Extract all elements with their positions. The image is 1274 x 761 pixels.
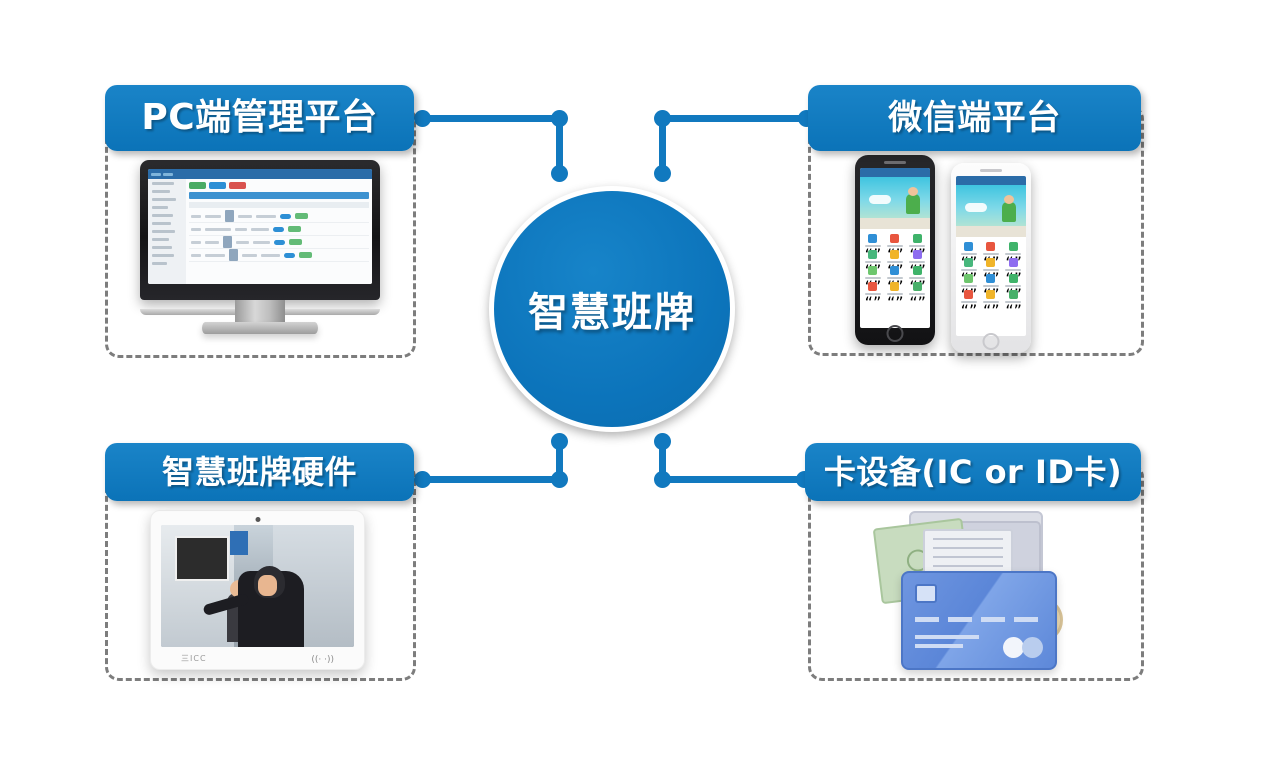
hub-node-smart-class-board[interactable]: 智慧班牌 bbox=[489, 186, 735, 432]
node-label-text: 智慧班牌硬件 bbox=[162, 456, 357, 488]
connector-dot-pc-elbow bbox=[551, 110, 568, 127]
connector-dot-card-end bbox=[654, 433, 671, 450]
connector-line-board-horizontal bbox=[420, 476, 560, 483]
node-label-card-device[interactable]: 卡设备(IC or ID卡) bbox=[805, 443, 1141, 501]
connector-dot-board-elbow bbox=[551, 471, 568, 488]
phone-dark bbox=[855, 155, 935, 345]
connector-dot-board-end bbox=[551, 433, 568, 450]
connector-line-pc-horizontal bbox=[420, 115, 560, 122]
node-label-pc-platform[interactable]: PC端管理平台 bbox=[105, 85, 414, 151]
ic-card bbox=[901, 571, 1057, 670]
connector-dot-board-start bbox=[414, 471, 431, 488]
node-label-text: 卡设备(IC or ID卡) bbox=[824, 456, 1122, 488]
board-brand-text: 三ICC bbox=[181, 653, 207, 664]
artwork-desktop-imac:  bbox=[140, 160, 380, 335]
connector-dot-pc-end bbox=[551, 165, 568, 182]
wifi-icon: ((· ·)) bbox=[311, 655, 334, 665]
phone-light bbox=[951, 163, 1031, 353]
connector-dot-pc-start bbox=[414, 110, 431, 127]
node-label-smart-board-hardware[interactable]: 智慧班牌硬件 bbox=[105, 443, 414, 501]
hub-label: 智慧班牌 bbox=[528, 280, 696, 338]
artwork-card-stack bbox=[865, 505, 1080, 670]
node-label-text: PC端管理平台 bbox=[141, 100, 377, 136]
artwork-smartphones bbox=[855, 155, 1065, 355]
connector-dot-wechat-end bbox=[654, 165, 671, 182]
connector-dot-card-elbow bbox=[654, 471, 671, 488]
camera-icon bbox=[255, 517, 260, 522]
diagram-canvas:  bbox=[0, 0, 1274, 761]
node-label-wechat-platform[interactable]: 微信端平台 bbox=[808, 85, 1141, 151]
connector-line-card-horizontal bbox=[660, 476, 805, 483]
node-label-text: 微信端平台 bbox=[888, 101, 1061, 135]
connector-dot-wechat-elbow bbox=[654, 110, 671, 127]
connector-line-wechat-horizontal bbox=[660, 115, 805, 122]
card-chip-icon bbox=[915, 584, 937, 603]
artwork-class-board-tablet: 三ICC ((· ·)) bbox=[150, 510, 365, 670]
